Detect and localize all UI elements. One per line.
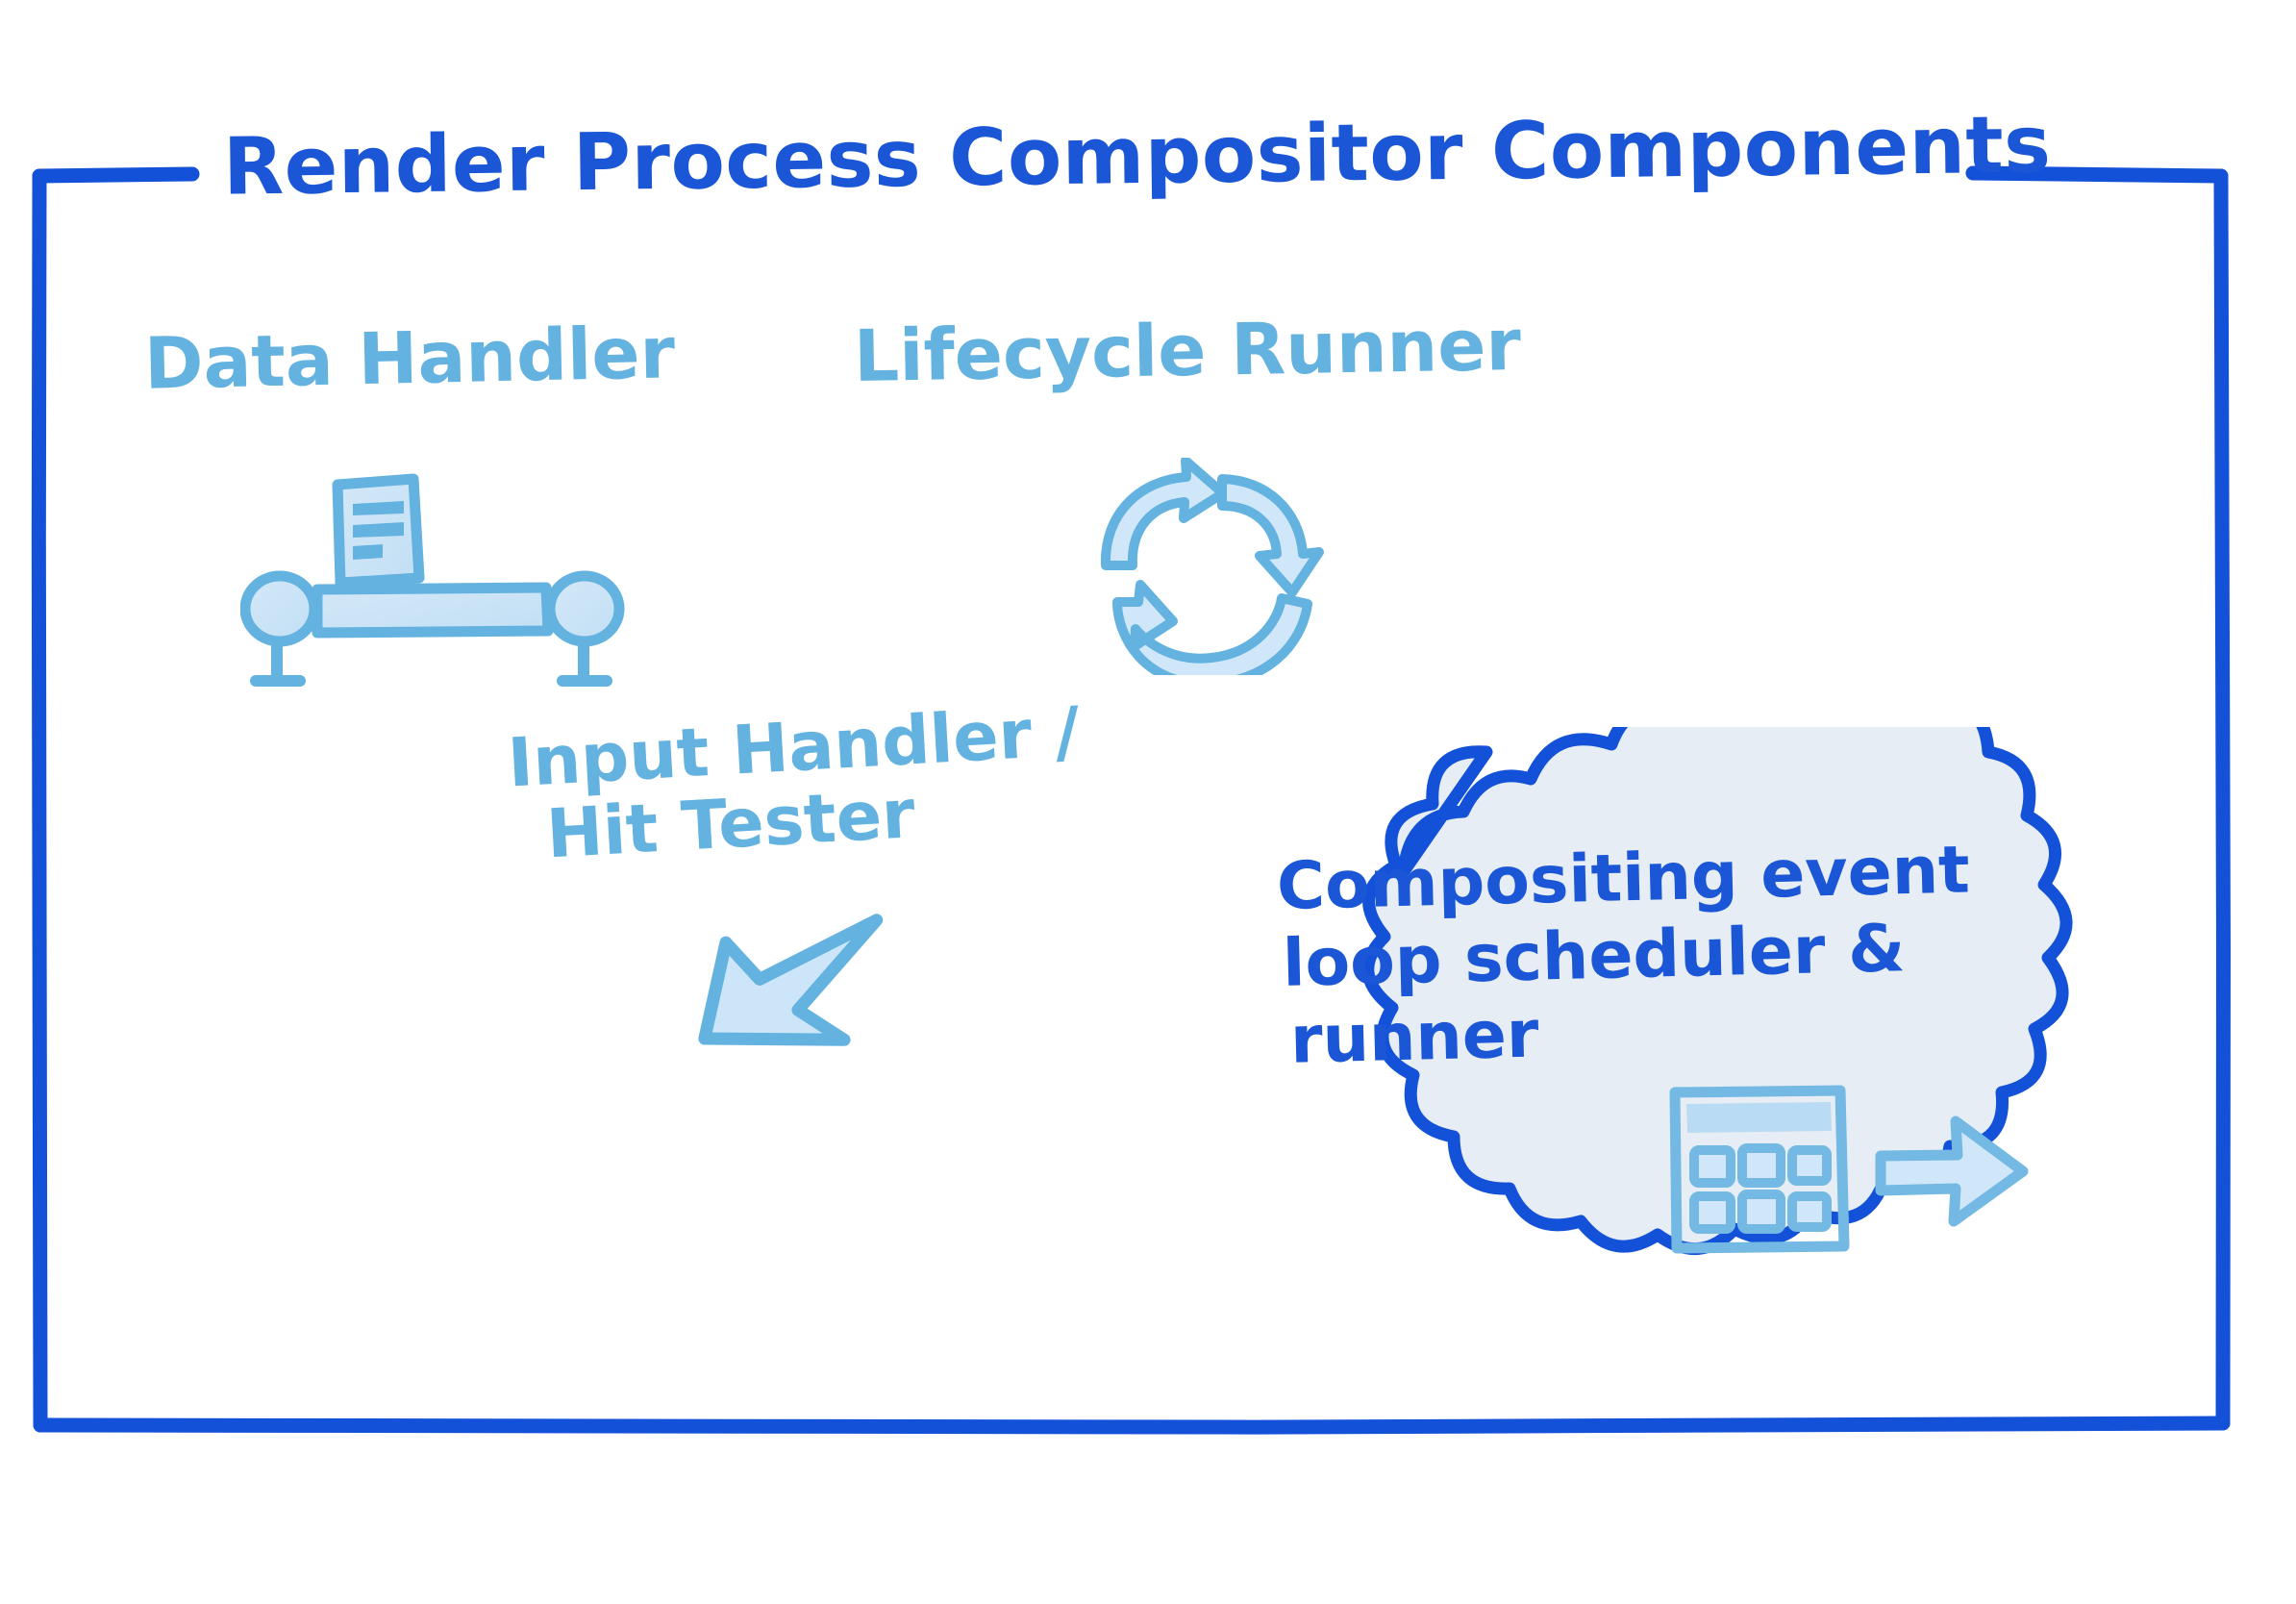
- cloud-compositing-event-loop: Compositing eventloop scheduler &runner: [1181, 727, 2200, 1369]
- calendar-schedule-arrow-icon: [1652, 1081, 2036, 1258]
- page-title: Render Process Compositor Components: [223, 106, 2052, 207]
- recycle-cycle-arrows-icon: [1094, 458, 1352, 675]
- label-data-handler: Data Handler: [143, 317, 675, 401]
- cloud-text: Compositing eventloop scheduler &runner: [1276, 832, 1993, 1081]
- label-input-handler-hit-tester: Input Handler /Hit Tester: [506, 696, 1086, 873]
- diagram-canvas: Render Process Compositor Components Dat…: [0, 0, 2296, 1604]
- conveyor-belt-document-icon: [240, 454, 625, 706]
- mouse-cursor-arrow-icon: [690, 892, 906, 1071]
- label-lifecycle-runner: Lifecycle Runner: [853, 310, 1521, 394]
